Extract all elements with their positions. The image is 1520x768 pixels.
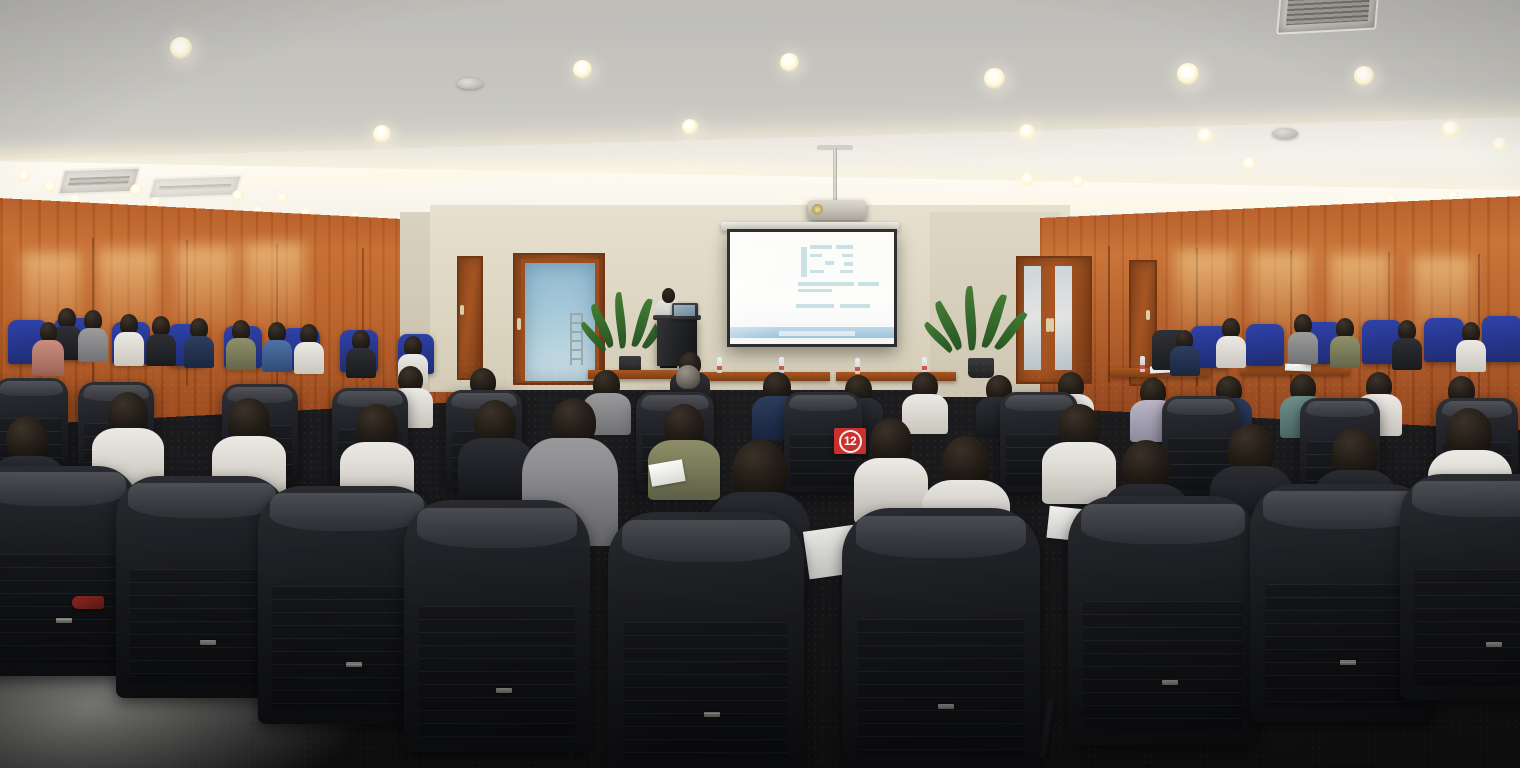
projector-pole (833, 148, 837, 204)
seat-plaque (346, 662, 362, 667)
ceiling-downlight (1072, 176, 1084, 188)
audience-torso (32, 340, 64, 376)
seat-far (1482, 316, 1520, 362)
ceiling-downlight (1177, 63, 1199, 85)
ceiling-downlight (373, 125, 391, 143)
red-shoe (72, 596, 104, 609)
ladder-in-doorway (570, 313, 583, 365)
slide-content-block (840, 270, 853, 273)
audience-head (40, 322, 57, 342)
seat-plaque (704, 712, 720, 717)
audience-torso (458, 438, 532, 498)
seat-headrest (0, 381, 63, 396)
seat-headrest (856, 516, 1026, 558)
seat-headrest (1412, 481, 1520, 517)
seat-plaque (1486, 642, 1502, 647)
projection-screen-surface (730, 232, 894, 344)
ceiling-downlight (780, 53, 799, 72)
door-handle-icon[interactable] (517, 318, 521, 330)
ceiling-downlight (1442, 121, 1459, 138)
ceiling-downlight (130, 184, 143, 197)
audience-head (676, 365, 700, 389)
water-bottle (855, 358, 860, 374)
seat-headrest (270, 493, 423, 531)
slide-content-block (825, 261, 834, 265)
slide-content-block (796, 304, 834, 308)
audience-torso (1392, 338, 1422, 370)
ceiling-downlight (682, 119, 698, 135)
seat-plaque (56, 618, 72, 623)
slide-content-block (798, 289, 832, 292)
slide-content-block (842, 254, 853, 257)
water-bottle (922, 357, 927, 373)
air-conditioning-vent-icon (1276, 0, 1380, 35)
ceiling-downlight (1197, 128, 1213, 144)
seat-plaque (1162, 680, 1178, 685)
ceiling-downlight (1021, 173, 1034, 186)
door-handle-icon[interactable] (1146, 310, 1150, 320)
door-handle-icon[interactable] (460, 305, 464, 315)
air-conditioning-vent-icon (57, 167, 141, 196)
seat-far (1246, 324, 1284, 366)
seat-headrest (1005, 395, 1072, 411)
seat-plaque (938, 704, 954, 709)
slide-content-block (840, 304, 870, 308)
audience-torso (1456, 340, 1486, 372)
air-conditioning-vent-icon (147, 174, 243, 199)
audience-torso (146, 334, 176, 366)
door-glass-panel (1024, 266, 1041, 370)
auditorium-seat-foreground[interactable] (1068, 496, 1258, 746)
audience-torso (184, 336, 214, 368)
audience-torso (1216, 336, 1246, 368)
seat-headrest (227, 387, 292, 403)
slide-content-block (810, 254, 822, 257)
ceiling-downlight (44, 181, 56, 193)
ceiling-downlight (18, 170, 31, 183)
seat-headrest (128, 483, 276, 519)
audience-torso (226, 338, 256, 370)
ceiling-downlight (1242, 157, 1256, 171)
seat-headrest (1306, 401, 1375, 417)
water-bottle (1140, 356, 1145, 372)
audience-torso (902, 394, 948, 434)
door-handle-icon[interactable] (1050, 318, 1054, 332)
water-bottle (779, 357, 784, 373)
slide-content-block (858, 282, 879, 286)
ceiling-downlight (1019, 124, 1035, 140)
audience-torso (1288, 332, 1318, 364)
seat-headrest (417, 508, 577, 548)
seat-plaque (200, 640, 216, 645)
auditorium-seat-foreground[interactable] (404, 500, 590, 752)
seat-headrest (622, 520, 791, 562)
audience-torso (114, 332, 144, 366)
auditorium-seat-foreground[interactable] (608, 512, 804, 768)
seat-headrest (1081, 504, 1244, 544)
audience-torso (78, 328, 108, 362)
auditorium-seat-foreground[interactable] (842, 508, 1040, 768)
speaker-head (662, 288, 675, 303)
ceiling-downlight (277, 193, 288, 204)
slide-content-block (810, 245, 832, 249)
seat-headrest (1263, 491, 1421, 529)
laptop-screen (674, 305, 695, 316)
slide-content-block (836, 245, 853, 249)
smoke-detector-icon (1272, 128, 1298, 139)
audience-torso (1330, 336, 1360, 368)
conference-hall-photo: 12 (0, 0, 1520, 768)
ceiling-downlight (1492, 137, 1507, 152)
water-bottle (717, 357, 722, 373)
slide-content-block (810, 270, 824, 273)
audience-torso (1170, 346, 1200, 376)
projection-screen (727, 229, 897, 347)
seat-headrest (1167, 399, 1234, 415)
smoke-detector-icon (457, 78, 483, 89)
auditorium-seat-foreground[interactable] (1400, 474, 1520, 700)
document-on-desk (1285, 364, 1311, 372)
ceiling-downlight (573, 60, 592, 79)
ceiling-downlight (984, 68, 1005, 89)
slide-content-block (844, 262, 853, 266)
seat-headrest (0, 472, 126, 506)
row-number-marker: 12 (834, 428, 866, 454)
seat-plaque (1340, 660, 1356, 665)
slide-footer-text (779, 331, 854, 336)
ceiling-downlight (232, 190, 244, 202)
slide-content-block (798, 282, 854, 286)
seat-plaque (496, 688, 512, 693)
audience-torso (262, 340, 292, 372)
ceiling-downlight (170, 37, 192, 59)
audience-torso (346, 348, 376, 378)
ceiling-downlight (1354, 66, 1374, 86)
slide-content-block (801, 247, 807, 277)
audience-torso (1042, 442, 1116, 504)
projector-lens-icon (812, 204, 823, 215)
door-glass-panel (1055, 266, 1072, 370)
seat-headrest (789, 395, 856, 411)
audience-torso (294, 342, 324, 374)
row-number-label: 12 (839, 430, 862, 453)
